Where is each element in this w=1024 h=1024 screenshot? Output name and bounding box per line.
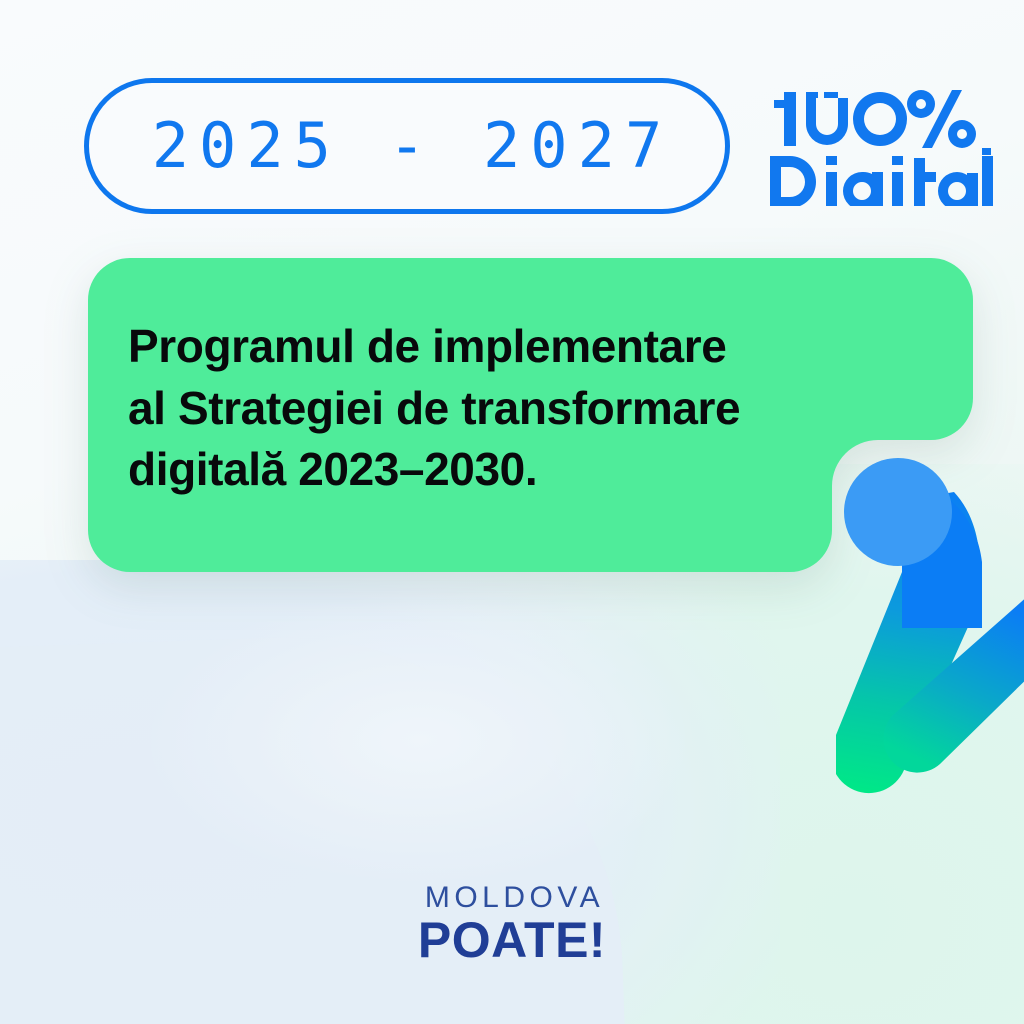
arrow-head-circle xyxy=(844,458,952,566)
message-line-3: digitală 2023–2030. xyxy=(128,439,888,501)
arrow-person-icon xyxy=(836,452,1024,822)
background-soft-blob xyxy=(140,590,700,890)
logo-text-poate: POATE! xyxy=(418,915,606,966)
moldova-poate-logo: MOLDOVA POATE! xyxy=(0,883,1024,966)
message-bubble-text: Programul de implementare al Strategiei … xyxy=(128,316,888,501)
brand-logo-100-digital xyxy=(766,86,996,206)
logo-text-moldova: MOLDOVA xyxy=(420,883,604,913)
date-range-label: 2025 - 2027 xyxy=(142,115,673,177)
date-range-pill: 2025 - 2027 xyxy=(84,78,730,214)
message-line-2: al Strategiei de transformare xyxy=(128,378,888,440)
poster-canvas: 2025 - 2027 xyxy=(0,0,1024,1024)
message-line-1: Programul de implementare xyxy=(128,316,888,378)
